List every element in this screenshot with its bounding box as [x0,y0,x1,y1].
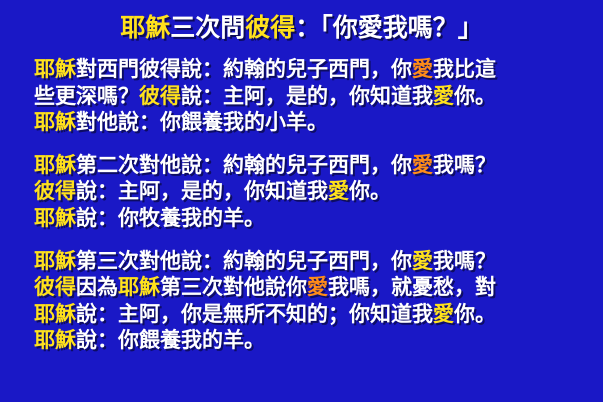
p1-line-2-run-1: 彼得 [139,84,181,108]
p2-line-1-run-0: 耶穌 [34,153,76,177]
title-run-1: 三次問 [170,13,245,42]
p3-line-3-run-0: 耶穌 [34,302,76,326]
p2-line-2-run-2: 愛 [328,179,349,203]
p3-line-3-run-2: 愛 [433,302,454,326]
p2-line-3: 耶穌說：你牧養我的羊。 [34,205,594,232]
p1-line-2-run-0: 些更深嗎？ [34,84,139,108]
p3-line-4-run-0: 耶穌 [34,328,76,352]
p2-line-2-run-1: 說：主阿，是的，你知道我 [76,179,328,203]
p2-line-3-run-1: 說：你牧養我的羊。 [76,206,265,230]
p3-line-3-run-3: 你。 [454,302,496,326]
p3-line-2-run-5: 我嗎，就憂愁，對 [328,275,496,299]
p3-line-1-run-1: 第三次對他說：約翰的兒子西門，你 [76,249,412,273]
p2-line-2-run-0: 彼得 [34,179,76,203]
p1-line-2-run-4: 你。 [454,84,496,108]
p2-line-1-run-1: 第二次對他說：約翰的兒子西門，你 [76,153,412,177]
p1-line-1-run-0: 耶穌 [34,57,76,81]
p3-line-4-run-1: 說：你餵養我的羊。 [76,328,265,352]
p2-line-3-run-0: 耶穌 [34,206,76,230]
p1-line-2: 些更深嗎？彼得說：主阿，是的，你知道我愛你。 [34,83,594,110]
title-run-2: 彼得 [245,13,295,42]
p2-line-2-run-3: 你。 [349,179,391,203]
p2-line-1: 耶穌第二次對他說：約翰的兒子西門，你愛我嗎？ [34,152,594,179]
p1-line-1-run-3: 我比這 [433,57,496,81]
p3-line-2-run-0: 彼得 [34,275,76,299]
p3-line-1-run-0: 耶穌 [34,249,76,273]
title-run-0: 耶穌 [120,13,170,42]
p1-line-1-run-1: 對西門彼得說：約翰的兒子西門，你 [76,57,412,81]
p2-line-1-run-2: 愛 [412,153,433,177]
p3-line-3-run-1: 說：主阿，你是無所不知的；你知道我 [76,302,433,326]
p3-line-4: 耶穌說：你餵養我的羊。 [34,327,594,354]
p3-line-1: 耶穌第三次對他說：約翰的兒子西門，你愛我嗎？ [34,248,594,275]
p1-line-3-run-0: 耶穌 [34,110,76,134]
p1-line-1-run-2: 愛 [412,57,433,81]
slide-title: 耶穌三次問彼得：「你愛我嗎？」 [0,13,603,43]
p1-line-1: 耶穌對西門彼得說：約翰的兒子西門，你愛我比這 [34,56,594,83]
presentation-slide: 耶穌三次問彼得：「你愛我嗎？」 耶穌對西門彼得說：約翰的兒子西門，你愛我比這些更… [0,0,603,402]
p1-line-3-run-1: 對他說：你餵養我的小羊。 [76,110,328,134]
p3-line-2: 彼得因為耶穌第三次對他說你愛我嗎，就憂愁，對 [34,274,594,301]
p2-line-1-run-3: 我嗎？ [433,153,496,177]
paragraph-3: 耶穌第三次對他說：約翰的兒子西門，你愛我嗎？彼得因為耶穌第三次對他說你愛我嗎，就… [34,248,594,354]
p1-line-3: 耶穌對他說：你餵養我的小羊。 [34,109,594,136]
paragraph-2: 耶穌第二次對他說：約翰的兒子西門，你愛我嗎？彼得說：主阿，是的，你知道我愛你。耶… [34,152,594,232]
p3-line-2-run-4: 愛 [307,275,328,299]
p3-line-2-run-3: 第三次對他說你 [160,275,307,299]
p1-line-2-run-2: 說：主阿，是的，你知道我 [181,84,433,108]
slide-body: 耶穌對西門彼得說：約翰的兒子西門，你愛我比這些更深嗎？彼得說：主阿，是的，你知道… [34,56,594,354]
p2-line-2: 彼得說：主阿，是的，你知道我愛你。 [34,178,594,205]
paragraph-1: 耶穌對西門彼得說：約翰的兒子西門，你愛我比這些更深嗎？彼得說：主阿，是的，你知道… [34,56,594,136]
p1-line-2-run-3: 愛 [433,84,454,108]
p3-line-1-run-3: 我嗎？ [433,249,496,273]
p3-line-3: 耶穌說：主阿，你是無所不知的；你知道我愛你。 [34,301,594,328]
p3-line-2-run-2: 耶穌 [118,275,160,299]
title-run-3: ：「你愛我嗎？」 [295,13,483,42]
p3-line-1-run-2: 愛 [412,249,433,273]
p3-line-2-run-1: 因為 [76,275,118,299]
